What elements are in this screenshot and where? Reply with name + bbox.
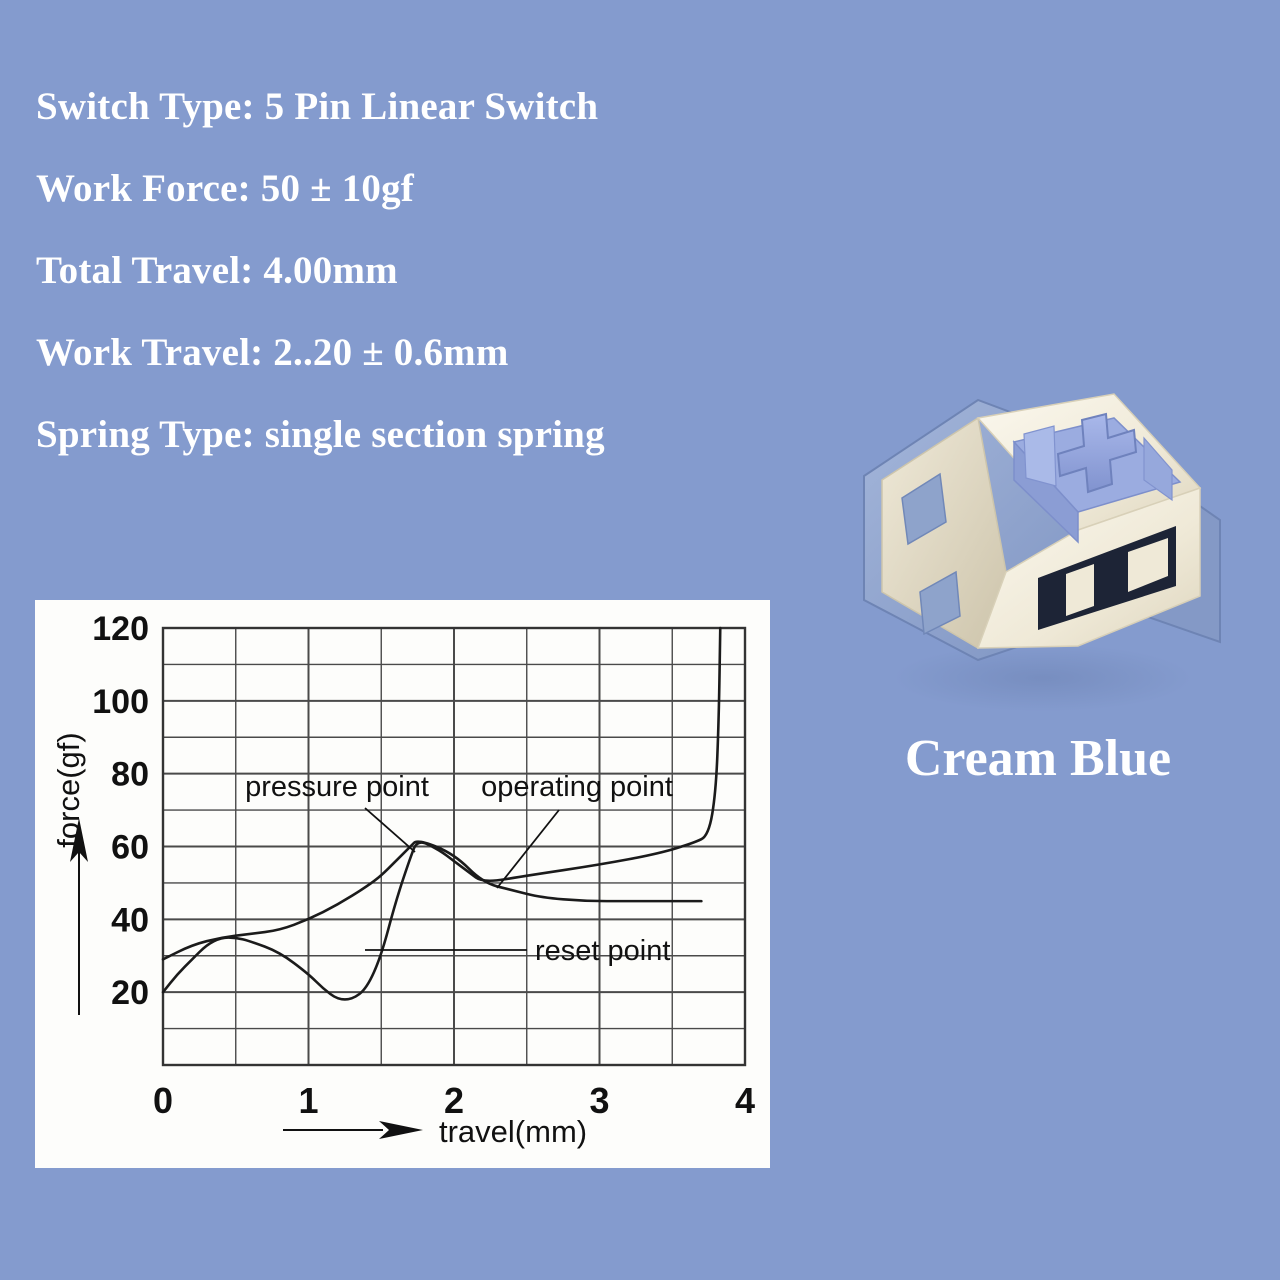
- x-tick-label: 0: [153, 1080, 173, 1121]
- y-tick-label: 60: [111, 829, 149, 867]
- chart-plot-area: 0123420406080100120force(gf)travel(mm) p…: [51, 610, 755, 1149]
- annotation-label: pressure point: [245, 771, 429, 803]
- force-travel-chart-panel: 0123420406080100120force(gf)travel(mm) p…: [35, 600, 770, 1168]
- x-tick-label: 1: [298, 1080, 318, 1121]
- grid-major-lines: [163, 628, 745, 1065]
- color-name-label: Cream Blue: [828, 728, 1248, 790]
- switch-illustration: [828, 360, 1248, 720]
- y-tick-label: 80: [111, 756, 149, 794]
- spec-line-work-force: Work Force: 50 ± 10gf: [36, 148, 836, 230]
- switch-product-image: [828, 360, 1248, 720]
- spec-line-switch-type: Switch Type: 5 Pin Linear Switch: [36, 66, 836, 148]
- annotation-label: reset point: [535, 935, 670, 967]
- switch-shadow: [893, 644, 1193, 712]
- x-axis-title: travel(mm): [439, 1114, 587, 1149]
- spec-line-work-travel: Work Travel: 2..20 ± 0.6mm: [36, 312, 836, 394]
- x-tick-label: 4: [735, 1080, 755, 1121]
- x-axis-arrow-head: [379, 1121, 423, 1139]
- specification-list: Switch Type: 5 Pin Linear Switch Work Fo…: [36, 66, 836, 476]
- y-tick-label: 40: [111, 901, 149, 939]
- annotation-leader-line: [365, 808, 415, 852]
- y-tick-label: 20: [111, 974, 149, 1012]
- annotation-label: operating point: [481, 771, 673, 803]
- x-tick-label: 3: [589, 1080, 609, 1121]
- y-tick-label: 100: [92, 683, 149, 721]
- force-travel-chart: 0123420406080100120force(gf)travel(mm) p…: [35, 600, 770, 1168]
- switch-stem-wall-left: [1024, 426, 1056, 486]
- spec-line-spring-type: Spring Type: single section spring: [36, 394, 836, 476]
- y-tick-label: 120: [92, 610, 149, 648]
- spec-line-total-travel: Total Travel: 4.00mm: [36, 230, 836, 312]
